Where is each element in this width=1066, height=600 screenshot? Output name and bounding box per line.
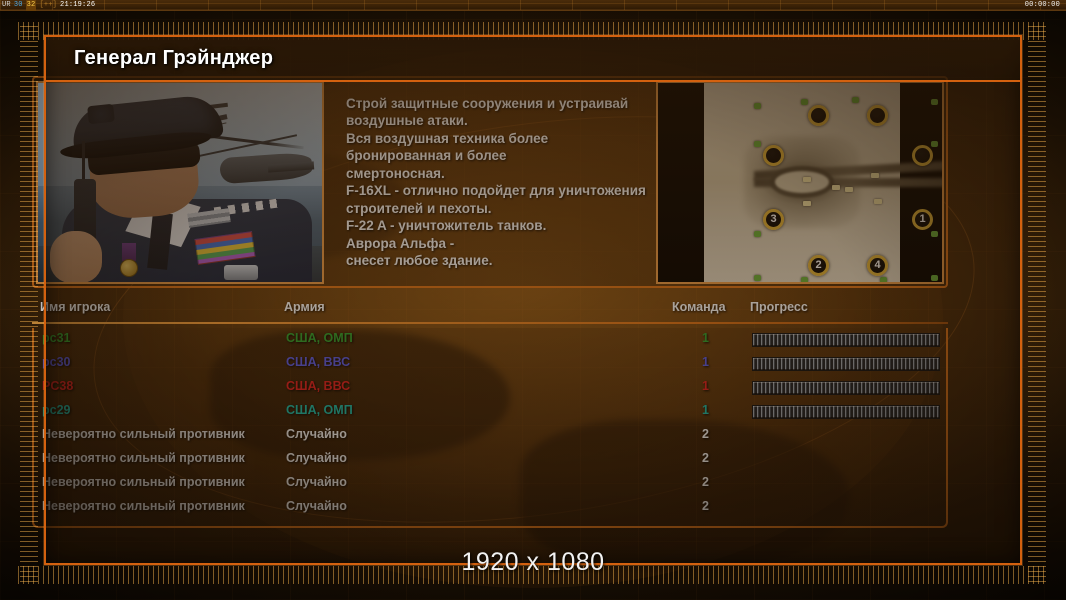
resolution-label: 1920 x 1080: [0, 548, 1066, 577]
briefing-panel: Генерал Грэйнджер: [44, 35, 1022, 565]
status-segment-0: UR: [2, 0, 11, 11]
loading-screen: UR3032[++]21:19:26 00:00:00 Генерал Грэй…: [0, 0, 1066, 600]
status-segment-4: 21:19:26: [60, 0, 95, 11]
ruler-decoration-right: [1028, 22, 1046, 582]
status-bar-left-text: UR3032[++]21:19:26: [2, 0, 95, 11]
status-bar-grid: [0, 0, 1066, 10]
status-segment-2: 32: [26, 0, 37, 11]
status-segment-3: [++]: [39, 0, 57, 11]
status-bar-clock: 00:00:00: [1025, 0, 1060, 11]
status-bar: UR3032[++]21:19:26 00:00:00: [0, 0, 1066, 11]
ruler-decoration-left: [20, 22, 38, 582]
status-segment-1: 30: [14, 0, 23, 11]
page-title: Генерал Грэйнджер: [74, 47, 273, 70]
panel-title-bar: Генерал Грэйнджер: [46, 37, 1020, 82]
